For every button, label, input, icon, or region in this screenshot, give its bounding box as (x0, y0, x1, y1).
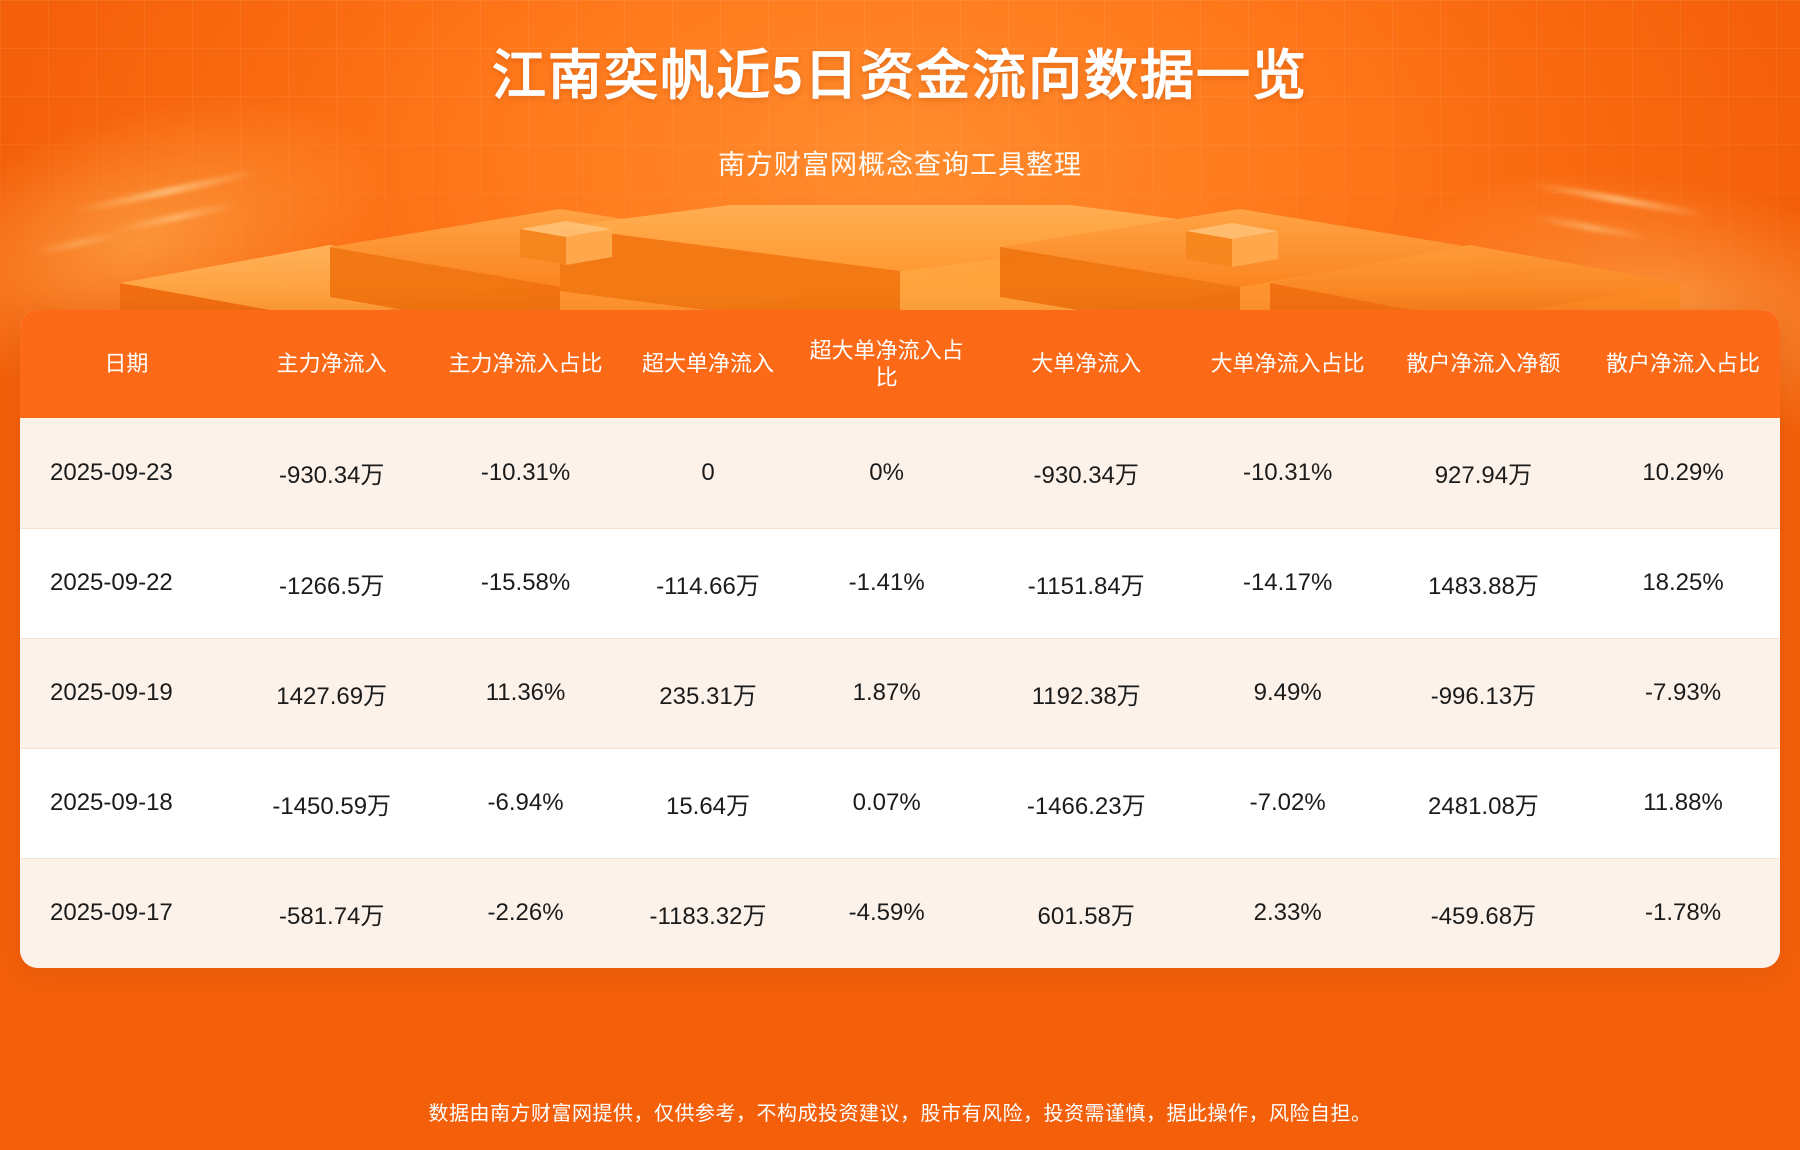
cell-lg-pct: -10.31% (1195, 418, 1381, 528)
column-header-main-pct: 主力净流入占比 (431, 310, 621, 418)
cell-lg-net: 601.58万 (978, 858, 1195, 968)
cell-retail-pct: 18.25% (1586, 528, 1780, 638)
cell-date: 2025-09-17 (20, 858, 233, 968)
page-title: 江南奕帆近5日资金流向数据一览 (0, 44, 1800, 109)
cell-retail-net: -996.13万 (1381, 638, 1586, 748)
cell-main-net: -581.74万 (233, 858, 431, 968)
page-subtitle: 南方财富网概念查询工具整理 (0, 143, 1800, 182)
page-header: 江南奕帆近5日资金流向数据一览 南方财富网概念查询工具整理 (0, 0, 1800, 182)
cell-xl-net: 15.64万 (621, 748, 796, 858)
cell-main-pct: 11.36% (431, 638, 621, 748)
table-row: 2025-09-23 -930.34万 -10.31% 0 0% -930.34… (20, 418, 1780, 528)
column-header-retail-net: 散户净流入净额 (1381, 310, 1586, 418)
cell-date: 2025-09-18 (20, 748, 233, 858)
cell-retail-net: -459.68万 (1381, 858, 1586, 968)
table-row: 2025-09-17 -581.74万 -2.26% -1183.32万 -4.… (20, 858, 1780, 968)
cell-xl-pct: 1.87% (795, 638, 977, 748)
cell-xl-pct: 0.07% (795, 748, 977, 858)
column-header-xl-pct: 超大单净流入占比 (795, 310, 977, 418)
cell-date: 2025-09-23 (20, 418, 233, 528)
cell-lg-net: -1466.23万 (978, 748, 1195, 858)
cell-xl-net: -114.66万 (621, 528, 796, 638)
cell-retail-pct: -1.78% (1586, 858, 1780, 968)
cell-date: 2025-09-19 (20, 638, 233, 748)
cell-lg-pct: -7.02% (1195, 748, 1381, 858)
cell-lg-net: -1151.84万 (978, 528, 1195, 638)
fund-flow-table: 日期 主力净流入 主力净流入占比 超大单净流入 超大单净流入占比 大单净流入 大… (20, 310, 1780, 968)
cell-lg-pct: 9.49% (1195, 638, 1381, 748)
column-header-xl-net: 超大单净流入 (621, 310, 796, 418)
cell-retail-net: 1483.88万 (1381, 528, 1586, 638)
cell-xl-pct: -4.59% (795, 858, 977, 968)
column-header-retail-pct: 散户净流入占比 (1586, 310, 1780, 418)
cell-xl-net: 235.31万 (621, 638, 796, 748)
cell-xl-net: -1183.32万 (621, 858, 796, 968)
cell-retail-pct: 10.29% (1586, 418, 1780, 528)
cell-xl-net: 0 (621, 418, 796, 528)
cell-main-net: -1266.5万 (233, 528, 431, 638)
cell-xl-pct: -1.41% (795, 528, 977, 638)
cell-retail-pct: -7.93% (1586, 638, 1780, 748)
data-table-card: 南方财富网 Southmoney.com 日期 主力净流入 主力净流入占比 超大… (20, 310, 1780, 968)
table-row: 2025-09-19 1427.69万 11.36% 235.31万 1.87%… (20, 638, 1780, 748)
cell-date: 2025-09-22 (20, 528, 233, 638)
column-header-lg-pct: 大单净流入占比 (1195, 310, 1381, 418)
cell-lg-pct: -14.17% (1195, 528, 1381, 638)
cell-main-net: 1427.69万 (233, 638, 431, 748)
cell-lg-net: 1192.38万 (978, 638, 1195, 748)
cell-main-pct: -15.58% (431, 528, 621, 638)
column-header-lg-net: 大单净流入 (978, 310, 1195, 418)
cell-main-pct: -6.94% (431, 748, 621, 858)
table-header: 日期 主力净流入 主力净流入占比 超大单净流入 超大单净流入占比 大单净流入 大… (20, 310, 1780, 418)
cell-main-pct: -10.31% (431, 418, 621, 528)
cell-xl-pct: 0% (795, 418, 977, 528)
cell-main-net: -1450.59万 (233, 748, 431, 858)
cell-retail-net: 2481.08万 (1381, 748, 1586, 858)
cell-lg-net: -930.34万 (978, 418, 1195, 528)
table-body: 2025-09-23 -930.34万 -10.31% 0 0% -930.34… (20, 418, 1780, 968)
cell-main-pct: -2.26% (431, 858, 621, 968)
table-row: 2025-09-18 -1450.59万 -6.94% 15.64万 0.07%… (20, 748, 1780, 858)
table-header-row: 日期 主力净流入 主力净流入占比 超大单净流入 超大单净流入占比 大单净流入 大… (20, 310, 1780, 418)
column-header-date: 日期 (20, 310, 233, 418)
disclaimer-text: 数据由南方财富网提供，仅供参考，不构成投资建议，股市有风险，投资需谨慎，据此操作… (429, 1097, 1372, 1126)
cell-retail-pct: 11.88% (1586, 748, 1780, 858)
cell-main-net: -930.34万 (233, 418, 431, 528)
footer: 数据由南方财富网提供，仅供参考，不构成投资建议，股市有风险，投资需谨慎，据此操作… (0, 1072, 1800, 1150)
column-header-main-net: 主力净流入 (233, 310, 431, 418)
cell-lg-pct: 2.33% (1195, 858, 1381, 968)
cell-retail-net: 927.94万 (1381, 418, 1586, 528)
table-row: 2025-09-22 -1266.5万 -15.58% -114.66万 -1.… (20, 528, 1780, 638)
